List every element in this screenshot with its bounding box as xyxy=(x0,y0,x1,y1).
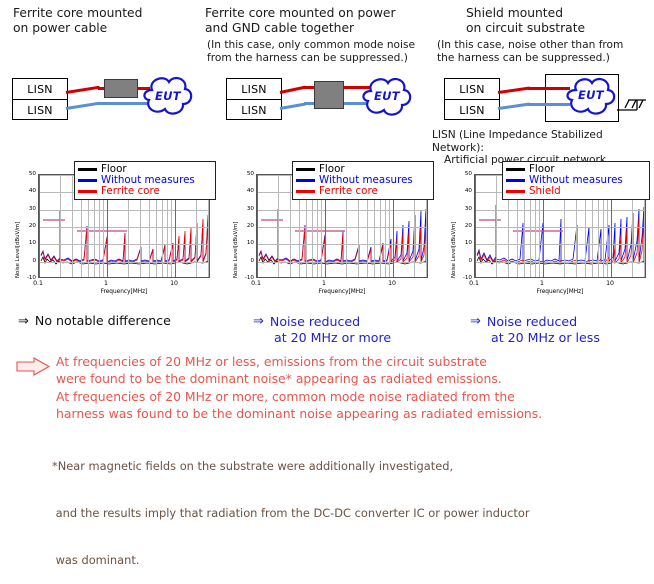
column-1-title-line-2: on power cable xyxy=(13,21,213,36)
chart-3-ytick-10: 10 xyxy=(450,240,472,246)
chart-1-ytick-40: 40 xyxy=(14,188,36,194)
chart-1-x-axis-label: Frequency[MHz] xyxy=(101,289,148,295)
legend-swatch-floor-icon xyxy=(296,168,315,171)
chart-2-ytick-40: 40 xyxy=(232,188,254,194)
summary-line-3: At frequencies of 20 MHz or more, common… xyxy=(56,388,652,405)
conclusion-2-line-2: at 20 MHz or more xyxy=(253,330,453,346)
eut-label-3: EUT xyxy=(578,88,604,102)
footnote-line-3: was dominant. xyxy=(52,553,652,569)
legend-item-countermeasure: Ferrite core xyxy=(78,186,211,197)
chart-1-ytick-30: 30 xyxy=(14,206,36,212)
chart-panel-2: Noise Level[dBuV/m] 50 40 30 xyxy=(224,160,436,308)
power-wire-red-1a xyxy=(66,86,100,94)
chart-1-xtick-10: 10 xyxy=(170,280,178,287)
legend-label-countermeasure: Ferrite core xyxy=(319,186,378,197)
column-2-title-line-2: and GND cable together xyxy=(205,21,435,36)
lisn-label-upper: LISN xyxy=(13,79,67,100)
legend-swatch-without-measures-icon xyxy=(296,179,315,182)
eut-label-1: EUT xyxy=(155,89,181,103)
chart-3-xtick-1: 1 xyxy=(540,280,544,287)
chart-2-y-axis-label: Noise Level[dBuV/m] xyxy=(233,222,239,278)
chart-3-ytick-50: 50 xyxy=(450,171,472,177)
lisn-label-lower: LISN xyxy=(227,100,281,121)
column-3-subtitle-line-2: the harness can be suppressed.) xyxy=(437,52,654,65)
circuit-diagram-1: LISN LISN EUT xyxy=(0,70,220,130)
chart-3-ytick-30: 30 xyxy=(450,206,472,212)
legend-item-countermeasure: Shield xyxy=(506,186,645,197)
chart-1-ytick-0: 0 xyxy=(14,258,36,264)
legend-swatch-countermeasure-icon xyxy=(78,190,97,193)
chart-2-ytick-20: 20 xyxy=(232,223,254,229)
chart-2-xtick-0.1: 0.1 xyxy=(251,280,261,287)
double-arrow-icon-1: ⇒ xyxy=(18,314,29,329)
chart-1-y-axis-label: Noise Level[dBuV/m] xyxy=(15,222,21,278)
summary-text: At frequencies of 20 MHz or less, emissi… xyxy=(56,353,652,423)
power-wire-red-2a xyxy=(280,86,306,95)
footnote-line-1: *Near magnetic fields on the substrate w… xyxy=(52,459,652,475)
conclusion-3: ⇒ Noise reduced at 20 MHz or less xyxy=(470,314,654,345)
lisn-label-upper: LISN xyxy=(445,79,499,100)
chart-3-x-axis-label: Frequency[MHz] xyxy=(537,289,584,295)
legend-item-without-measures: Without measures xyxy=(506,175,645,186)
chart-2-x-axis-label: Frequency[MHz] xyxy=(319,289,366,295)
column-3-title: Shield mounted on circuit substrate xyxy=(466,6,654,35)
column-2-subtitle: (In this case, only common mode noise fr… xyxy=(207,39,437,64)
power-wire-red-3a xyxy=(498,87,530,95)
gnd-wire-blue-3a xyxy=(498,103,530,110)
chart-2-xtick-1: 1 xyxy=(322,280,326,287)
conclusion-1: ⇒ No notable difference xyxy=(18,314,238,329)
legend-swatch-floor-icon xyxy=(506,168,525,171)
lisn-block-3: LISN LISN xyxy=(444,78,500,120)
gnd-wire-blue-2a xyxy=(280,103,306,110)
column-3-subtitle-line-1: (In this case, noise other than from xyxy=(437,39,654,52)
lisn-note-line-1: LISN (Line Impedance Stabilized Network)… xyxy=(432,129,654,154)
legend-label-countermeasure: Ferrite core xyxy=(101,186,160,197)
chart-3-xtick-0.1: 0.1 xyxy=(469,280,479,287)
ground-symbol-icon xyxy=(615,96,654,122)
legend-swatch-countermeasure-icon xyxy=(506,190,525,193)
column-3-title-line-1: Shield mounted xyxy=(466,6,654,21)
conclusion-2-line-1: Noise reduced xyxy=(270,314,360,330)
lisn-label-lower: LISN xyxy=(13,100,67,121)
chart-3-xtick-10: 10 xyxy=(606,280,614,287)
chart-2-legend: Floor Without measures Ferrite core xyxy=(292,161,434,200)
summary-line-4: harness was found to be the dominant noi… xyxy=(56,405,652,422)
lisn-label-upper: LISN xyxy=(227,79,281,100)
column-2-title: Ferrite core mounted on power and GND ca… xyxy=(205,6,435,35)
gnd-wire-blue-1a xyxy=(66,102,100,110)
chart-panel-3: Noise Level[dBuV/m] 50 40 30 xyxy=(442,160,654,308)
column-2-subtitle-line-1: (In this case, only common mode noise xyxy=(207,39,437,52)
chart-3-ytick-40: 40 xyxy=(450,188,472,194)
conclusion-3-line-1: Noise reduced xyxy=(487,314,577,330)
chart-2-ytick-10: 10 xyxy=(232,240,254,246)
footnote-line-2: and the results imply that radiation fro… xyxy=(52,506,652,522)
ferrite-core-icon-2 xyxy=(314,81,344,109)
chart-1-xtick-1: 1 xyxy=(104,280,108,287)
circuit-diagram-3: LISN LISN EUT xyxy=(430,70,654,130)
chart-panel-1: Noise Level[dBuV/m] 50 40 30 xyxy=(6,160,218,308)
column-2-title-line-1: Ferrite core mounted on power xyxy=(205,6,435,21)
conclusion-1-line-1: No notable difference xyxy=(35,314,171,329)
chart-1-xtick-0.1: 0.1 xyxy=(33,280,43,287)
chart-3-ytick-20: 20 xyxy=(450,223,472,229)
column-1-title-line-1: Ferrite core mounted xyxy=(13,6,213,21)
summary-line-2: were found to be the dominant noise* app… xyxy=(56,370,652,387)
circuit-diagram-2: LISN LISN EUT xyxy=(220,70,440,130)
chart-1-ytick-20: 20 xyxy=(14,223,36,229)
legend-swatch-without-measures-icon xyxy=(78,179,97,182)
chart-2-ytick-0: 0 xyxy=(232,258,254,264)
double-arrow-icon-2: ⇒ xyxy=(253,314,264,330)
chart-3-y-axis-label: Noise Level[dBuV/m] xyxy=(451,222,457,278)
chart-3-ytick-0: 0 xyxy=(450,258,472,264)
ferrite-core-icon-1 xyxy=(104,79,138,98)
chart-2-ytick-30: 30 xyxy=(232,206,254,212)
conclusion-3-line-2: at 20 MHz or less xyxy=(470,330,654,346)
chart-1-ytick-50: 50 xyxy=(14,171,36,177)
column-3-title-line-2: on circuit substrate xyxy=(466,21,654,36)
block-arrow-icon xyxy=(16,357,52,377)
summary-line-1: At frequencies of 20 MHz or less, emissi… xyxy=(56,353,652,370)
lisn-block-2: LISN LISN xyxy=(226,78,282,120)
eut-label-2: EUT xyxy=(374,89,400,103)
chart-2-ytick-50: 50 xyxy=(232,171,254,177)
legend-label-countermeasure: Shield xyxy=(529,186,561,197)
chart-1-ytick-10: 10 xyxy=(14,240,36,246)
legend-item-countermeasure: Ferrite core xyxy=(296,186,429,197)
column-3-subtitle: (In this case, noise other than from the… xyxy=(437,39,654,64)
legend-swatch-without-measures-icon xyxy=(506,179,525,182)
lisn-label-lower: LISN xyxy=(445,100,499,121)
chart-1-legend: Floor Without measures Ferrite core xyxy=(74,161,216,200)
conclusion-2: ⇒ Noise reduced at 20 MHz or more xyxy=(253,314,453,345)
legend-swatch-countermeasure-icon xyxy=(296,190,315,193)
column-2-subtitle-line-2: from the harness can be suppressed.) xyxy=(207,52,437,65)
footnote-text: *Near magnetic fields on the substrate w… xyxy=(52,428,652,584)
lisn-block-1: LISN LISN xyxy=(12,78,68,120)
column-1-title: Ferrite core mounted on power cable xyxy=(13,6,213,35)
legend-swatch-floor-icon xyxy=(78,168,97,171)
chart-3-legend: Floor Without measures Shield xyxy=(502,161,650,200)
chart-2-xtick-10: 10 xyxy=(388,280,396,287)
double-arrow-icon-3: ⇒ xyxy=(470,314,481,330)
